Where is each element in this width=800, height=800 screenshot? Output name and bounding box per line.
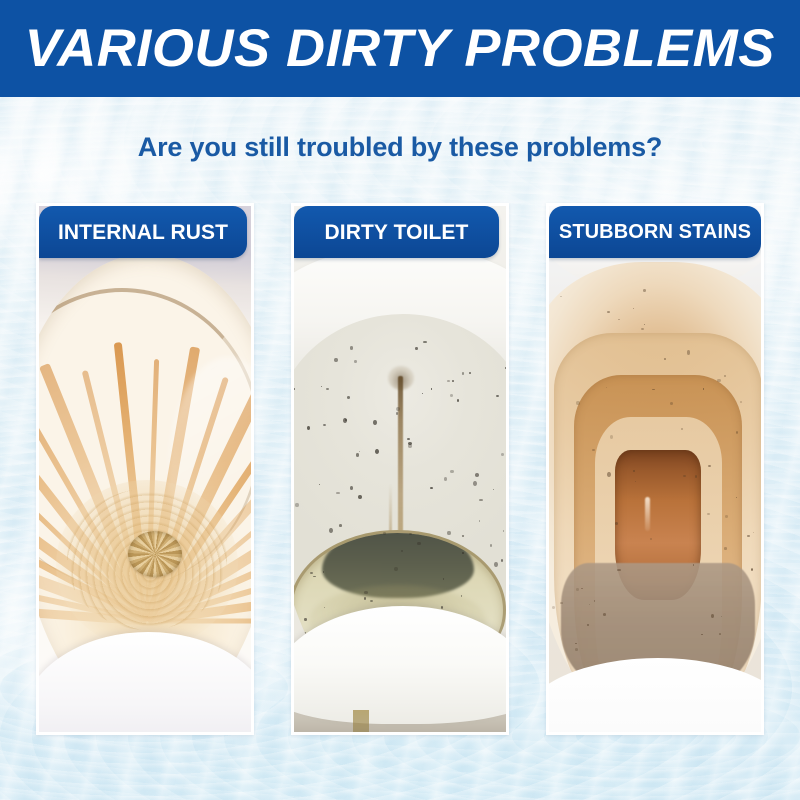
page-title: VARIOUS DIRTY PROBLEMS [25, 22, 775, 75]
dirt-speck [324, 607, 325, 608]
dirt-speck [717, 379, 720, 383]
card-badge-label: STUBBORN STAINS [559, 222, 751, 242]
dirt-speck [457, 399, 460, 402]
dirt-speck [347, 396, 350, 399]
dirt-speck [364, 591, 368, 594]
dirt-speck [664, 358, 666, 360]
dirt-speck [396, 407, 400, 411]
dirt-speck [575, 643, 576, 644]
dirt-speck [321, 386, 323, 387]
dirt-speck [560, 296, 562, 297]
dirt-speck [450, 394, 453, 397]
dirt-speck [581, 588, 583, 589]
dirt-speck [319, 484, 320, 485]
dirt-speck [356, 453, 360, 457]
dirt-speck [417, 542, 420, 545]
card-badge[interactable]: INTERNAL RUST [39, 206, 247, 258]
dirt-speck [503, 530, 504, 532]
dirt-speck [607, 311, 610, 313]
dirt-speck [370, 600, 373, 602]
dirt-speck [394, 567, 398, 571]
dirt-speck [753, 532, 754, 533]
dirt-speck [375, 449, 379, 454]
dirt-speck [423, 341, 427, 343]
card-badge[interactable]: STUBBORN STAINS [549, 206, 761, 258]
dirt-speck [724, 547, 727, 549]
dirt-speck [354, 360, 357, 363]
dirt-speck [592, 449, 595, 452]
dirt-speck [505, 367, 506, 370]
dirt-speck [576, 588, 579, 591]
card-badge-label: DIRTY TOILET [325, 222, 469, 243]
dirt-speck [334, 358, 338, 362]
dirt-speck [736, 431, 738, 434]
dirt-speck [310, 572, 313, 574]
dirt-speck [693, 564, 694, 566]
dirt-speck [304, 618, 306, 621]
dirt-speck [323, 424, 326, 426]
dirt-speck [461, 595, 463, 597]
dirt-speck [447, 380, 450, 382]
dirt-speck [490, 544, 493, 547]
dirt-speck [641, 328, 644, 331]
floor-stain [353, 710, 369, 732]
dirt-speck [603, 613, 606, 616]
dirt-speck [708, 465, 711, 467]
dirt-speck [594, 600, 595, 602]
dirt-speck [494, 562, 498, 567]
toilet-lower-rim [549, 658, 761, 732]
dirt-speck [552, 606, 556, 610]
dirt-speck [443, 578, 444, 580]
poster: VARIOUS DIRTY PROBLEMS Are you still tro… [0, 0, 800, 800]
dirt-speck [326, 388, 330, 390]
dirty-toilet-bowl-photo [294, 206, 506, 732]
stubborn-stains-toilet-photo [549, 206, 761, 732]
dirt-speck [401, 550, 403, 552]
dirt-speck [358, 495, 362, 499]
dirt-speck [617, 569, 621, 571]
dirt-speck [575, 648, 578, 651]
card-badge[interactable]: DIRTY TOILET [294, 206, 499, 258]
dirt-speck [644, 324, 645, 325]
dirt-speck [350, 486, 354, 491]
dirt-speck [479, 520, 481, 522]
dirt-speck [473, 481, 477, 486]
dirt-speck [295, 503, 298, 507]
dirt-speck [703, 388, 705, 390]
dirt-speck [496, 395, 499, 397]
dirt-speck [469, 372, 472, 374]
dirt-speck [643, 289, 646, 292]
dirt-speck [587, 624, 589, 625]
card-badge-label: INTERNAL RUST [58, 222, 228, 243]
dirt-speck [681, 428, 683, 430]
dirt-speck [701, 634, 702, 635]
dirt-speck [339, 524, 342, 527]
dirt-speck [589, 604, 590, 605]
dirt-speck [313, 576, 315, 578]
dirt-speck [607, 472, 611, 477]
dirt-speck [736, 497, 737, 498]
dirt-speck [479, 499, 483, 501]
dirt-speck [415, 347, 418, 350]
dirt-speck [447, 531, 450, 535]
dirt-speck [294, 388, 295, 390]
toilet-front-rim [294, 606, 506, 724]
dirt-speck [407, 438, 410, 440]
dirt-speck [576, 401, 580, 405]
header-banner: VARIOUS DIRTY PROBLEMS [0, 0, 800, 97]
dirt-speck [610, 435, 613, 439]
dirt-speck [721, 616, 722, 617]
dirt-speck [462, 372, 464, 374]
dirt-speck [373, 420, 377, 424]
dirt-speck [501, 453, 504, 456]
problem-cards: INTERNAL RUST [0, 203, 800, 738]
dirt-speck [422, 393, 423, 394]
dirt-speck [747, 535, 750, 538]
dirt-speck [383, 532, 385, 535]
dirt-speck [633, 470, 635, 472]
dirt-speck [725, 515, 728, 518]
dirt-speck [450, 470, 453, 473]
dirt-speck [396, 412, 399, 415]
dirt-speck [350, 346, 354, 350]
dirt-speck [364, 597, 366, 600]
problem-card[interactable]: STUBBORN STAINS [546, 203, 764, 735]
dirt-speck [430, 487, 433, 489]
dirt-speck [724, 375, 726, 377]
dirt-speck [633, 308, 634, 309]
dirt-speck [560, 602, 564, 604]
dirt-speck [323, 571, 324, 573]
dirt-speck [707, 513, 710, 515]
problem-card[interactable]: INTERNAL RUST [36, 203, 254, 735]
dirt-speck [618, 319, 620, 320]
toilet-bowl-internal-rust-photo [39, 206, 251, 732]
dirt-speck [462, 552, 464, 554]
dirt-speck [711, 614, 714, 618]
dirt-speck [606, 387, 607, 388]
dirt-speck [553, 267, 554, 269]
dirt-speck [431, 388, 433, 390]
dirt-speck [409, 533, 412, 535]
dirt-speck [329, 528, 333, 534]
dirt-speck [751, 569, 753, 570]
dirt-speck [336, 492, 340, 494]
dirt-speck [359, 451, 361, 453]
dirt-speck [635, 481, 636, 482]
dirt-speck [475, 473, 479, 477]
dirt-speck [408, 442, 412, 445]
dirt-speck [650, 538, 652, 540]
dirt-speck [307, 426, 311, 431]
dirt-speck [670, 402, 674, 405]
dirt-speck [408, 444, 411, 448]
problem-card[interactable]: DIRTY TOILET [291, 203, 509, 735]
dirt-speck [719, 633, 721, 635]
dirt-speck [652, 389, 654, 390]
dirt-speck [462, 535, 465, 537]
dirt-speck [444, 477, 448, 482]
dirt-speck [305, 346, 307, 348]
dirt-speck [695, 475, 697, 478]
dirt-speck [683, 475, 686, 477]
dirt-speck [343, 418, 347, 423]
dirt-speck [452, 380, 454, 382]
dirt-speck [615, 522, 618, 525]
dirt-speck [501, 559, 503, 562]
dirt-speck [493, 489, 494, 491]
dirt-speck [500, 348, 501, 349]
subtitle: Are you still troubled by these problems… [0, 133, 800, 163]
dirt-speck [687, 350, 690, 354]
dirt-speck [452, 320, 453, 321]
dirt-speck [740, 401, 742, 403]
